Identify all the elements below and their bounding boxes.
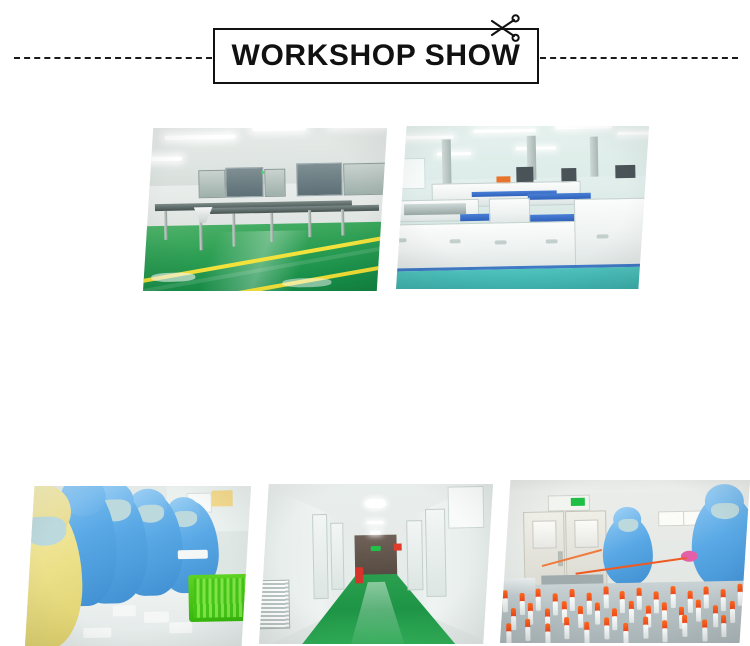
- photo-scene: [143, 128, 387, 291]
- photo-scene: [500, 480, 750, 643]
- photo-bottle-filling[interactable]: [500, 480, 750, 643]
- photo-cleanroom-workbenches[interactable]: [143, 128, 387, 291]
- photo-assembly-workers[interactable]: [25, 486, 251, 646]
- photo-corridor[interactable]: [259, 484, 493, 644]
- gallery-row-top: [0, 112, 750, 284]
- photo-scene: [396, 126, 649, 289]
- workshop-photo-gallery: [0, 100, 750, 494]
- photo-packaging-machine[interactable]: [396, 126, 649, 289]
- photo-scene: [259, 484, 493, 644]
- photo-scene: [25, 486, 251, 646]
- scissors-icon: [486, 12, 522, 46]
- page-header: WORKSHOP SHOW: [0, 0, 750, 100]
- gallery-row-bottom: [0, 290, 750, 454]
- header-divider-left: [14, 57, 212, 59]
- header-divider-right: [540, 57, 738, 59]
